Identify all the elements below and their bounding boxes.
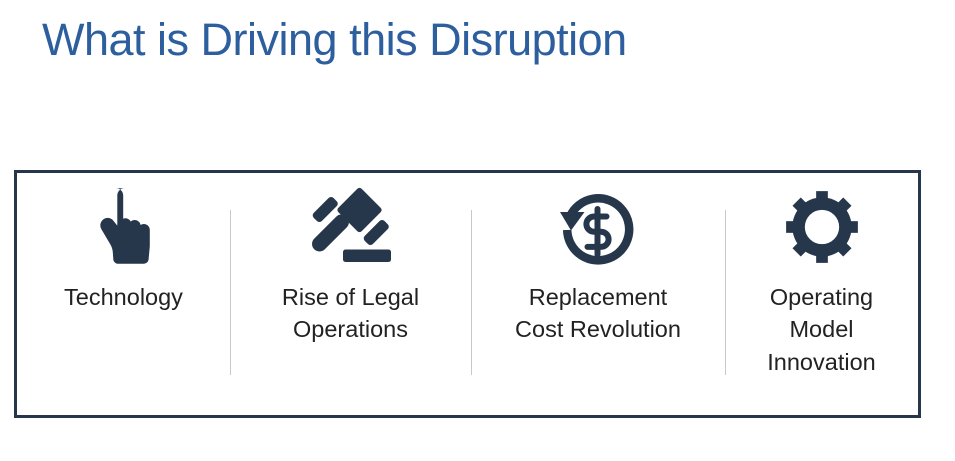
page-title: What is Driving this Disruption: [42, 14, 627, 66]
drivers-panel: Technology: [14, 170, 921, 418]
dollar-refresh-icon: [471, 173, 725, 281]
gear-icon: [725, 173, 918, 281]
gavel-icon: [230, 173, 471, 281]
driver-label: Rise of Legal Operations: [278, 281, 423, 346]
driver-column-replacement-cost[interactable]: Replacement Cost Revolution: [471, 173, 725, 415]
driver-label: Operating Model Innovation: [763, 281, 879, 378]
driver-label: Technology: [60, 281, 187, 313]
pointing-hand-icon: [17, 173, 230, 281]
driver-column-operating-model[interactable]: Operating Model Innovation: [725, 173, 918, 415]
drivers-columns: Technology: [17, 173, 918, 415]
driver-column-legal-operations[interactable]: Rise of Legal Operations: [230, 173, 471, 415]
driver-column-technology[interactable]: Technology: [17, 173, 230, 415]
driver-label: Replacement Cost Revolution: [511, 281, 685, 346]
